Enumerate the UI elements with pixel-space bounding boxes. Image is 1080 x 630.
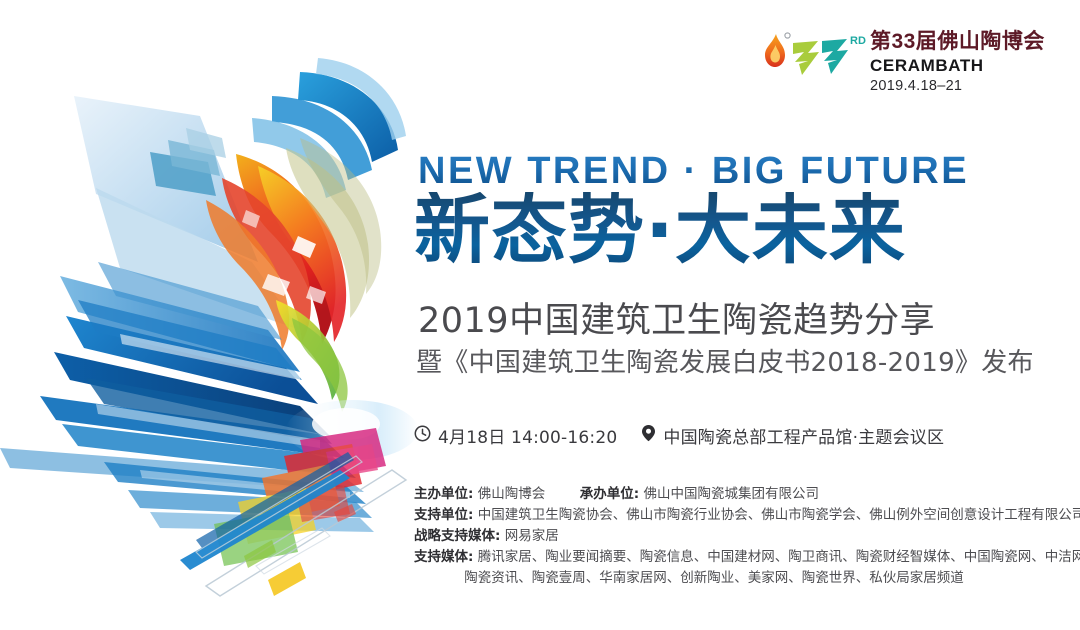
abstract-shards-graphic: [0, 0, 440, 630]
flame-droplet-icon: [765, 33, 790, 67]
organizer-label: 承办单位:: [580, 486, 639, 502]
subtitle-main: 2019中国建筑卫生陶瓷趋势分享: [418, 300, 935, 342]
credits-block: 主办单位: 佛山陶博会 承办单位: 佛山中国陶瓷城集团有限公司 支持单位: 中国…: [414, 484, 1054, 589]
strategic-media-label: 战略支持媒体:: [414, 528, 500, 544]
event-meta-row: 4月18日 14:00-16:20 中国陶瓷总部工程产品馆·主题会议区: [414, 423, 944, 448]
clock-icon: [414, 425, 431, 447]
logo-title-cn: 第33届佛山陶博会: [870, 30, 1045, 54]
media-value-line2: 陶瓷资讯、陶瓷壹周、华南家居网、创新陶业、美家网、陶瓷世界、私伙局家居频道: [464, 570, 964, 586]
logo-numeral-second: [822, 39, 848, 74]
credit-line-media: 支持媒体: 腾讯家居、陶业要闻摘要、陶瓷信息、中国建材网、陶卫商讯、陶瓷财经智媒…: [414, 547, 1054, 568]
media-label: 支持媒体:: [414, 549, 473, 565]
map-pin-icon: [641, 424, 656, 447]
organizer-value: 佛山中国陶瓷城集团有限公司: [644, 486, 820, 502]
credit-line-strategic-media: 战略支持媒体: 网易家居: [414, 526, 1054, 547]
poster-canvas: RD 第33届佛山陶博会 CERAMBATH 2019.4.18–21 NEW …: [0, 0, 1080, 630]
credit-line-host: 主办单位: 佛山陶博会 承办单位: 佛山中国陶瓷城集团有限公司: [414, 484, 1054, 505]
event-location-text: 中国陶瓷总部工程产品馆·主题会议区: [663, 423, 944, 448]
media-value-line1: 腾讯家居、陶业要闻摘要、陶瓷信息、中国建材网、陶卫商讯、陶瓷财经智媒体、中国陶瓷…: [478, 549, 1080, 565]
strategic-media-value: 网易家居: [505, 528, 559, 544]
host-label: 主办单位:: [414, 486, 473, 502]
logo-date-range: 2019.4.18–21: [870, 77, 1045, 95]
cerambath-logo-mark: RD: [762, 28, 866, 86]
logo-numeral-first: [793, 41, 819, 75]
logo-title-en: CERAMBATH: [870, 55, 1045, 76]
host-value: 佛山陶博会: [478, 486, 546, 502]
event-time: 4月18日 14:00-16:20: [414, 423, 617, 448]
credit-line-media-cont: 陶瓷资讯、陶瓷壹周、华南家居网、创新陶业、美家网、陶瓷世界、私伙局家居频道: [414, 568, 1054, 589]
support-label: 支持单位:: [414, 507, 473, 523]
logo-ordinal-suffix: RD: [850, 35, 866, 47]
support-value: 中国建筑卫生陶瓷协会、佛山市陶瓷行业协会、佛山市陶瓷学会、佛山例外空间创意设计工…: [478, 507, 1080, 523]
headline-chinese: 新态势·大未来: [414, 192, 906, 268]
event-time-text: 4月18日 14:00-16:20: [438, 423, 617, 448]
credit-line-support: 支持单位: 中国建筑卫生陶瓷协会、佛山市陶瓷行业协会、佛山市陶瓷学会、佛山例外空…: [414, 505, 1054, 526]
event-logo-lockup: RD 第33届佛山陶博会 CERAMBATH 2019.4.18–21: [762, 28, 1062, 108]
event-location: 中国陶瓷总部工程产品馆·主题会议区: [641, 423, 944, 448]
subtitle-secondary: 暨《中国建筑卫生陶瓷发展白皮书2018-2019》发布: [416, 348, 1034, 379]
